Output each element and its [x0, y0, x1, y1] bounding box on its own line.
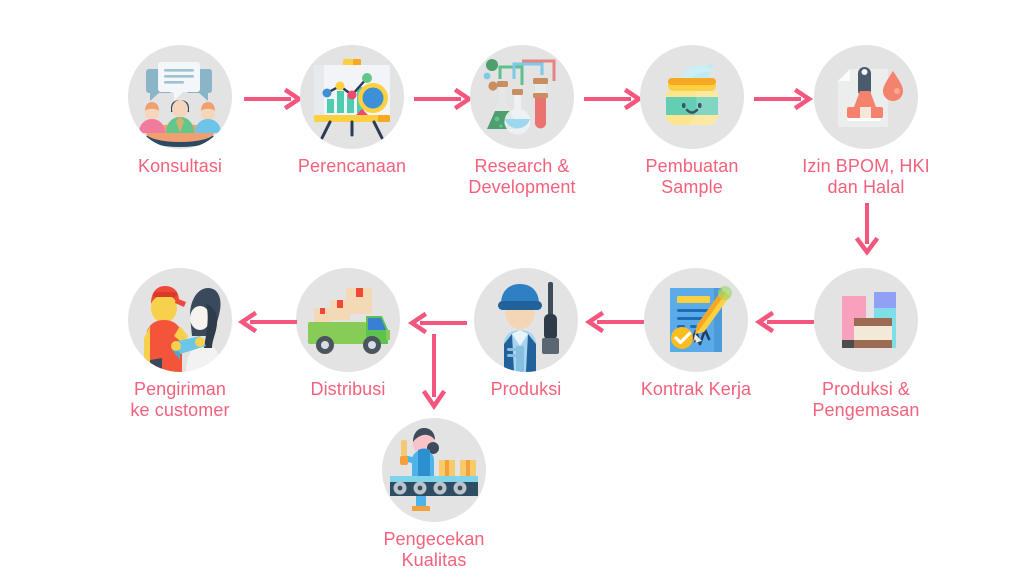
- process-node-sample[interactable]: Pembuatan Sample: [612, 45, 772, 198]
- node-label: Pengecekan Kualitas: [354, 529, 514, 571]
- process-node-perencanaan[interactable]: Perencanaan: [272, 45, 432, 177]
- node-label: Research & Development: [442, 156, 602, 198]
- process-node-produksi[interactable]: Produksi: [446, 268, 606, 400]
- node-label: Produksi & Pengemasan: [786, 379, 946, 421]
- stamp-approval-icon: [814, 45, 918, 149]
- process-node-izin[interactable]: Izin BPOM, HKI dan Halal: [786, 45, 946, 198]
- node-label: Perencanaan: [272, 156, 432, 177]
- node-label: Pengiriman ke customer: [100, 379, 260, 421]
- node-label: Izin BPOM, HKI dan Halal: [786, 156, 946, 198]
- node-label: Kontrak Kerja: [616, 379, 776, 400]
- node-icon-circle: [470, 45, 574, 149]
- delivery-truck-icon: [296, 268, 400, 372]
- contract-pen-icon: [644, 268, 748, 372]
- process-node-kontrak[interactable]: Kontrak Kerja: [616, 268, 776, 400]
- node-icon-circle: [474, 268, 578, 372]
- process-node-distribusi[interactable]: Distribusi: [268, 268, 428, 400]
- node-icon-circle: [640, 45, 744, 149]
- process-node-pengiriman[interactable]: Pengiriman ke customer: [100, 268, 260, 421]
- presentation-chart-icon: [300, 45, 404, 149]
- node-icon-circle: [300, 45, 404, 149]
- node-icon-circle: [382, 418, 486, 522]
- cream-jar-icon: [640, 45, 744, 149]
- node-label: Produksi: [446, 379, 606, 400]
- node-icon-circle: [128, 45, 232, 149]
- courier-delivery-icon: [128, 268, 232, 372]
- node-icon-circle: [296, 268, 400, 372]
- process-node-pengecekan[interactable]: Pengecekan Kualitas: [354, 418, 514, 571]
- node-icon-circle: [644, 268, 748, 372]
- lab-flasks-icon: [470, 45, 574, 149]
- process-node-konsultasi[interactable]: Konsultasi: [100, 45, 260, 177]
- cosmetic-packaging-icon: [814, 268, 918, 372]
- node-icon-circle: [128, 268, 232, 372]
- node-label: Pembuatan Sample: [612, 156, 772, 198]
- meeting-consultation-icon: [128, 45, 232, 149]
- factory-worker-icon: [474, 268, 578, 372]
- connector-izin-to-produksi-kemas: [852, 202, 882, 256]
- process-flow-diagram: Konsultasi: [0, 0, 1024, 585]
- node-icon-circle: [814, 45, 918, 149]
- node-label: Konsultasi: [100, 156, 260, 177]
- conveyor-inspection-icon: [382, 418, 486, 522]
- node-icon-circle: [814, 268, 918, 372]
- node-label: Distribusi: [268, 379, 428, 400]
- process-node-research[interactable]: Research & Development: [442, 45, 602, 198]
- process-node-produksi-pengemasan[interactable]: Produksi & Pengemasan: [786, 268, 946, 421]
